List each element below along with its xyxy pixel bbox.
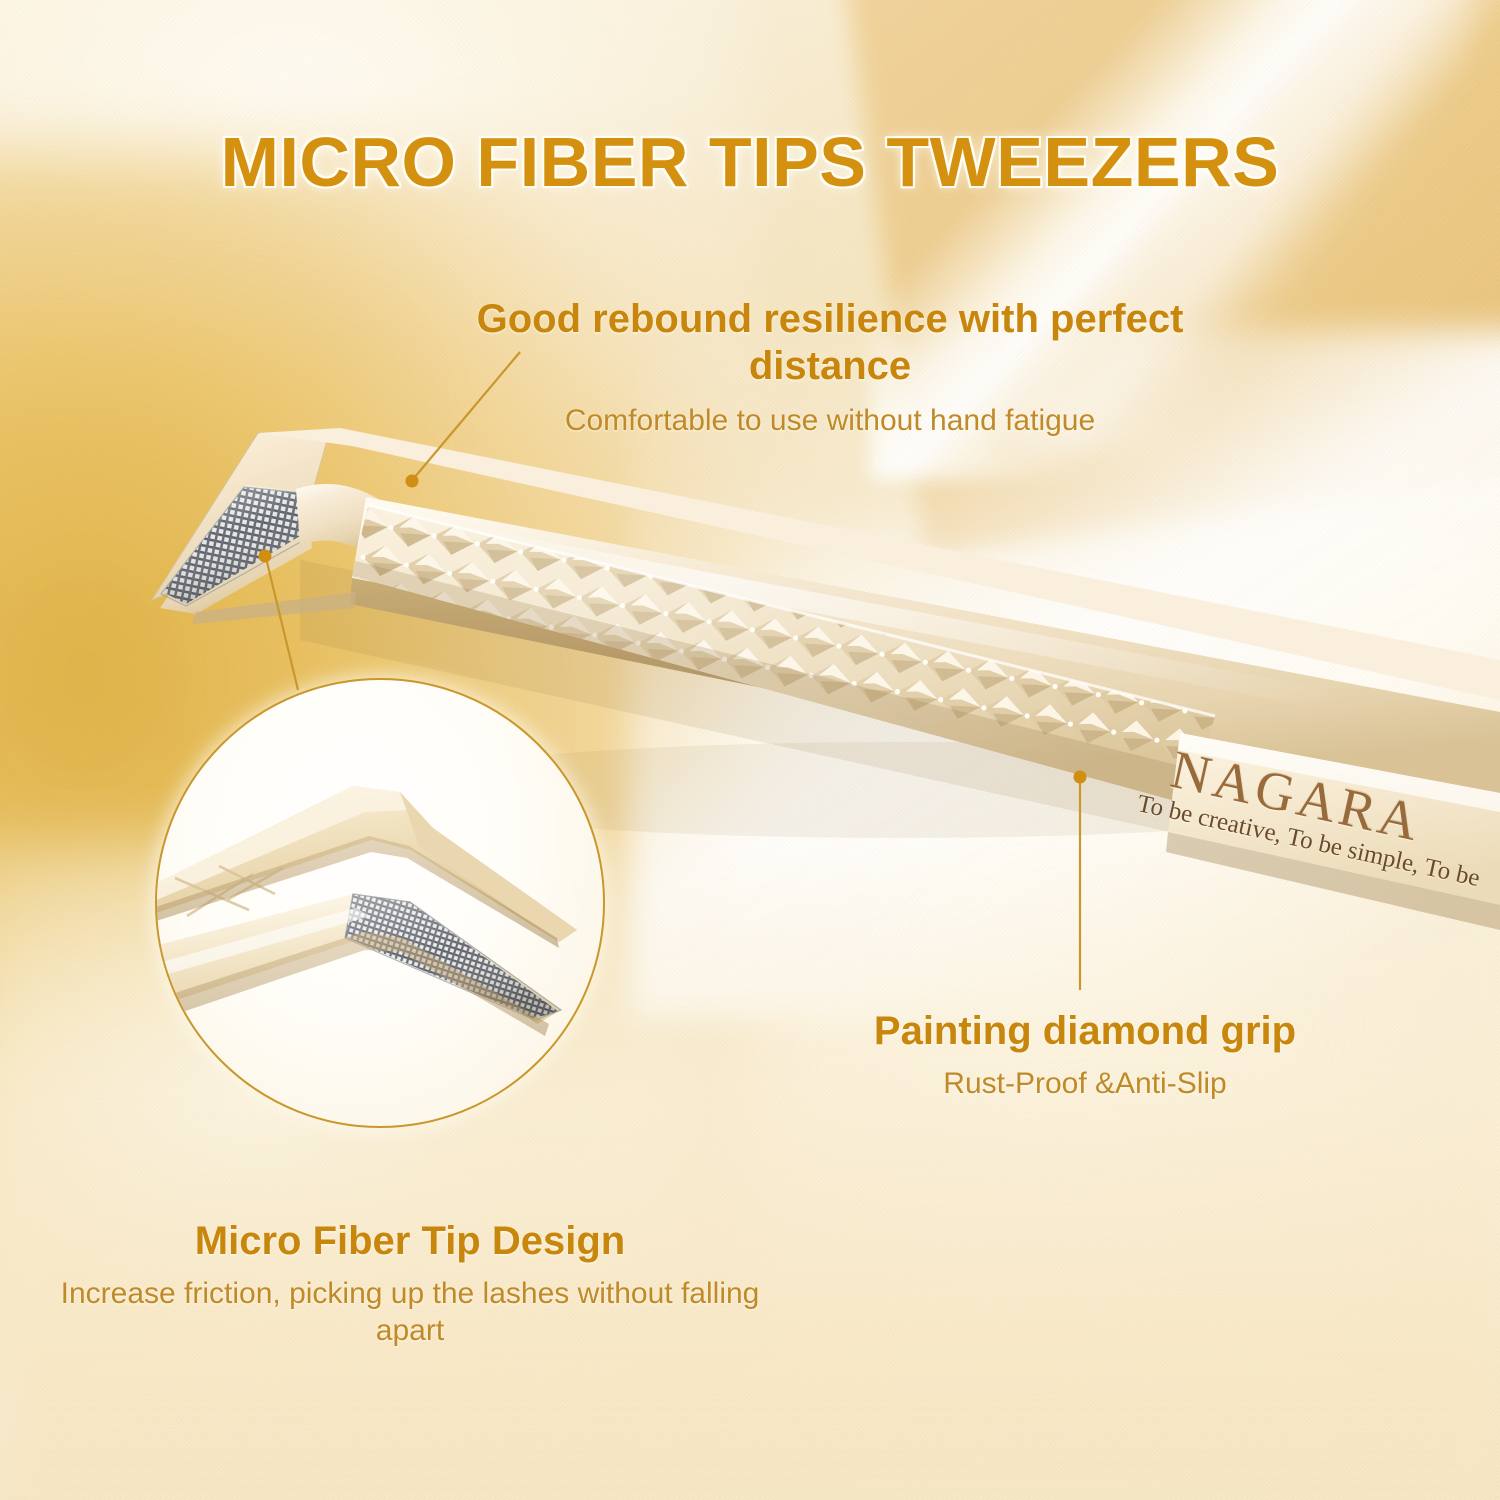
callout-rebound-subtext: Comfortable to use without hand fatigue <box>460 402 1200 439</box>
magnified-tip-illustration <box>157 680 603 1126</box>
callout-tip-subtext: Increase friction, picking up the lashes… <box>60 1275 760 1349</box>
callout-tip-heading: Micro Fiber Tip Design <box>60 1218 760 1265</box>
callout-grip-heading: Painting diamond grip <box>790 1008 1380 1055</box>
page-title: MICRO FIBER TIPS TWEEZERS <box>0 122 1500 202</box>
callout-rebound-heading: Good rebound resilience with perfect dis… <box>460 296 1200 390</box>
callout-tip: Micro Fiber Tip Design Increase friction… <box>60 1218 760 1350</box>
callout-grip-subtext: Rust-Proof &Anti-Slip <box>790 1065 1380 1102</box>
product-infographic-poster: NAGARA To be creative, To be simple, To … <box>0 0 1500 1500</box>
callout-rebound: Good rebound resilience with perfect dis… <box>460 296 1200 440</box>
magnified-lower-arm <box>157 894 561 1036</box>
callout-grip: Painting diamond grip Rust-Proof &Anti-S… <box>790 1008 1380 1102</box>
magnified-tip-circle <box>155 678 605 1128</box>
